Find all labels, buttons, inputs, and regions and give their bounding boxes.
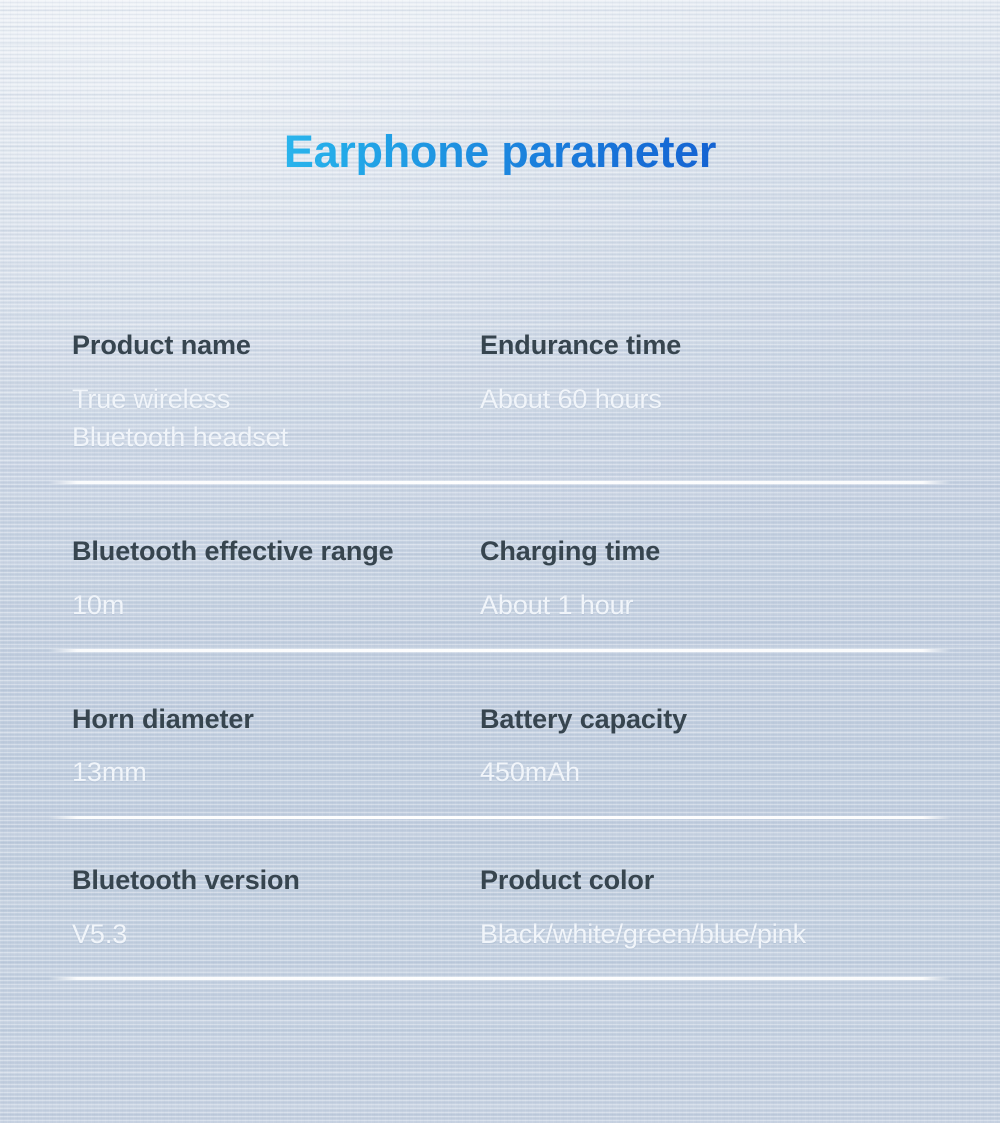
spec-row: Horn diameter 13mm Battery capacity 450m…	[0, 704, 1000, 816]
spec-value-endurance-time: About 60 hours	[480, 380, 1000, 419]
spec-cell-battery-capacity: Battery capacity 450mAh	[440, 704, 1000, 792]
spec-cell-bluetooth-range: Bluetooth effective range 10m	[0, 536, 440, 624]
spec-label-horn-diameter: Horn diameter	[72, 704, 440, 736]
spec-table: Product name True wirelessBluetooth head…	[0, 330, 1000, 980]
page-title: Earphone parameter	[284, 128, 716, 175]
spec-label-bluetooth-range: Bluetooth effective range	[72, 536, 440, 568]
spec-value-product-color: Black/white/green/blue/pink	[480, 915, 1000, 954]
spec-cell-bluetooth-version: Bluetooth version V5.3	[0, 865, 440, 953]
spec-row: Bluetooth version V5.3 Product color Bla…	[0, 865, 1000, 977]
spec-value-product-name: True wirelessBluetooth headset	[72, 380, 440, 457]
spec-cell-endurance-time: Endurance time About 60 hours	[440, 330, 1000, 457]
spec-row: Bluetooth effective range 10m Charging t…	[0, 536, 1000, 648]
spec-value-bluetooth-version: V5.3	[72, 915, 440, 954]
spec-sheet-content: Earphone parameter Product name True wir…	[0, 0, 1000, 1123]
spec-value-charging-time: About 1 hour	[480, 586, 1000, 625]
spec-value-battery-capacity: 450mAh	[480, 753, 1000, 792]
spec-cell-charging-time: Charging time About 1 hour	[440, 536, 1000, 624]
spec-label-charging-time: Charging time	[480, 536, 1000, 568]
spec-row: Product name True wirelessBluetooth head…	[0, 330, 1000, 481]
page-title-wrap: Earphone parameter	[0, 128, 1000, 175]
spec-value-horn-diameter: 13mm	[72, 753, 440, 792]
spec-label-battery-capacity: Battery capacity	[480, 704, 1000, 736]
spec-label-endurance-time: Endurance time	[480, 330, 1000, 362]
spacer	[0, 819, 1000, 865]
spec-value-bluetooth-range: 10m	[72, 586, 440, 625]
spacer	[0, 484, 1000, 536]
spec-sheet-page: Earphone parameter Product name True wir…	[0, 0, 1000, 1123]
spec-divider	[50, 977, 950, 980]
spec-cell-product-name: Product name True wirelessBluetooth head…	[0, 330, 440, 457]
spec-cell-horn-diameter: Horn diameter 13mm	[0, 704, 440, 792]
spec-label-bluetooth-version: Bluetooth version	[72, 865, 440, 897]
spec-cell-product-color: Product color Black/white/green/blue/pin…	[440, 865, 1000, 953]
spec-label-product-name: Product name	[72, 330, 440, 362]
spacer	[0, 652, 1000, 704]
spec-label-product-color: Product color	[480, 865, 1000, 897]
